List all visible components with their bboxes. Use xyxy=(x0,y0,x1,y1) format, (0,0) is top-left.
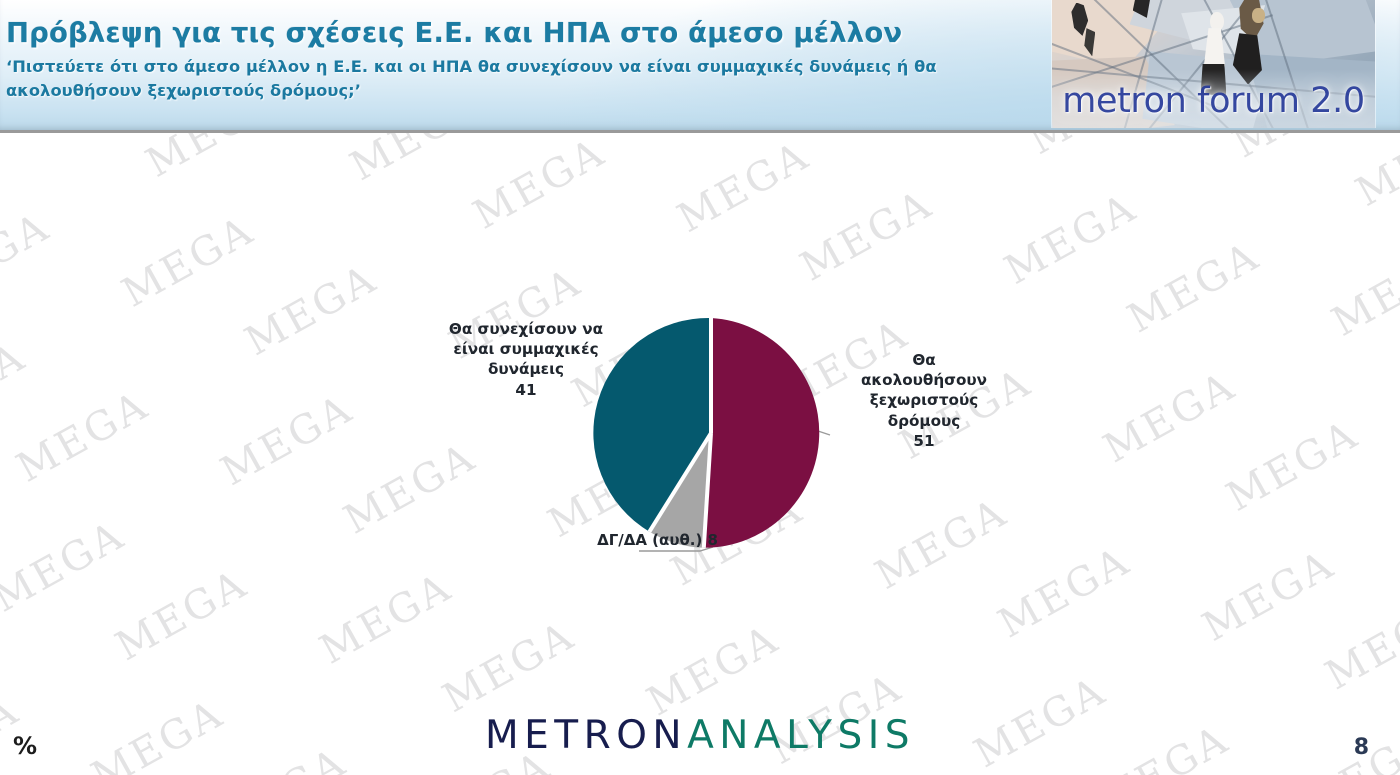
footer-brand-analysis: ANALYSIS xyxy=(687,713,915,758)
presentation-slide: MEGA MEGA MEGA MEGA MEGA MEGA MEGA MEGA … xyxy=(0,0,1400,775)
logo-wordmark: metron forum 2.0 xyxy=(1052,81,1375,121)
pie-slice-separate-paths xyxy=(704,318,819,548)
pie-chart-area: Θα συνεχίσουν να είναι συμμαχικές δυνάμε… xyxy=(0,133,1400,693)
slide-subtitle: ‘Πιστεύετε ότι στο άμεσο μέλλον η Ε.Ε. κ… xyxy=(6,55,1036,101)
pie-chart-svg xyxy=(0,133,1400,693)
pie-label-allied-forces: Θα συνεχίσουν να είναι συμμαχικές δυνάμε… xyxy=(430,319,622,400)
slide-title: Πρόβλεψη για τις σχέσεις Ε.Ε. και ΗΠΑ στ… xyxy=(6,17,1036,49)
metron-forum-logo: metron forum 2.0 xyxy=(1051,0,1376,128)
metron-analysis-footer-logo: METRONANALYSIS xyxy=(0,713,1400,758)
logo-person-silhouette xyxy=(1252,8,1265,23)
pie-label-dk-dna: ΔΓ/ΔΑ (αυθ.) 8 xyxy=(528,531,718,551)
header-text-block: Πρόβλεψη για τις σχέσεις Ε.Ε. και ΗΠΑ στ… xyxy=(6,17,1036,102)
footer-brand-metron: METRON xyxy=(485,713,687,758)
pie-label-separate-paths: Θα ακολουθήσουν ξεχωριστούς δρόμους 51 xyxy=(836,350,1012,451)
page-number: 8 xyxy=(1354,735,1369,760)
logo-person-silhouette xyxy=(1210,12,1224,31)
